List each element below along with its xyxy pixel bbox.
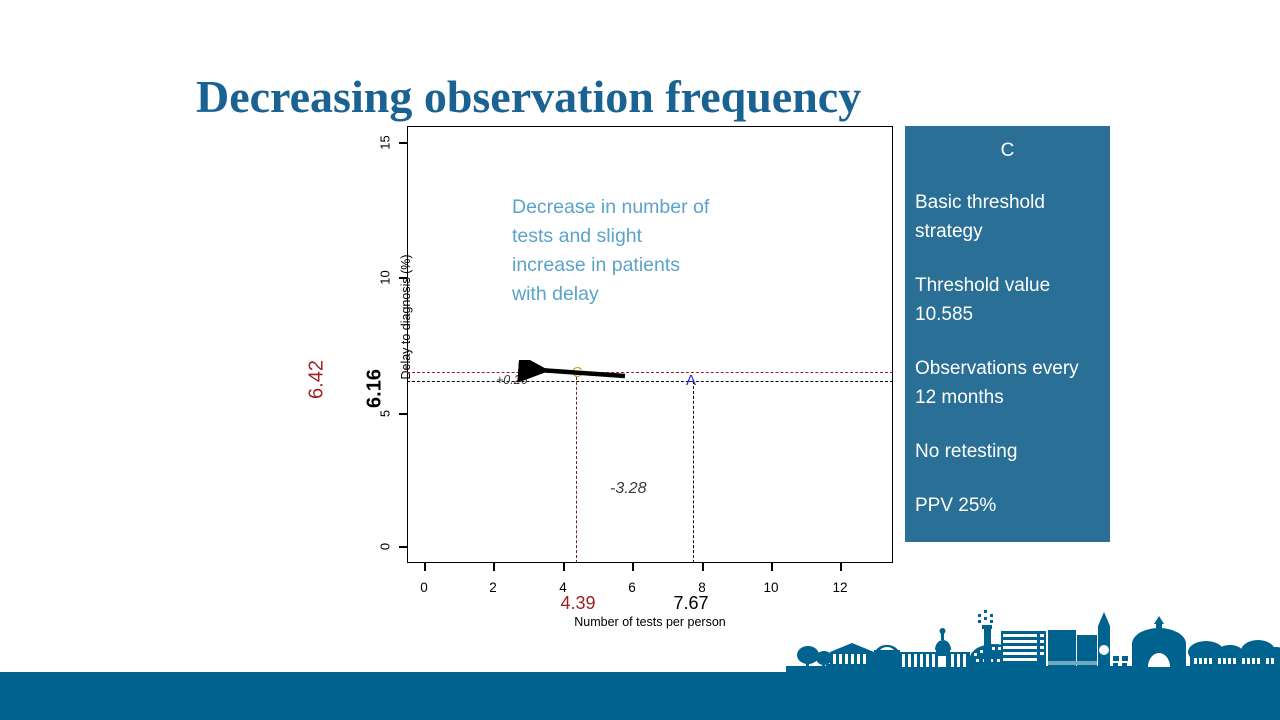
footer-bar [0,672,1280,720]
x-tick-label: 0 [409,580,439,595]
y-tick-mark [399,277,407,279]
page-title: Decreasing observation frequency [196,69,1096,125]
info-panel-line: No retesting [915,437,1100,466]
x-tick-label: 12 [825,580,855,595]
plot-frame [407,126,893,563]
info-panel: C Basic threshold strategy Threshold val… [905,126,1110,542]
info-panel-line: PPV 25% [915,491,1100,520]
x-tick-label: 2 [478,580,508,595]
reference-line-horizontal-red [407,372,893,373]
x-tick-label: 6 [617,580,647,595]
reference-line-vertical-red [576,372,577,563]
info-panel-line: Observations every 12 months [915,354,1100,412]
x-tick-mark [493,563,495,571]
city-skyline-graphic [786,600,1280,674]
x-tick-mark [840,563,842,571]
x-tick-mark [702,563,704,571]
x-highlight-value-red: 4.39 [543,593,613,614]
x-highlight-value-black: 7.67 [656,593,726,614]
y-highlight-value-red: 6.42 [306,350,329,410]
y-tick-label: 15 [378,128,393,158]
info-panel-line: Basic threshold strategy [915,188,1100,246]
data-point-a: A [679,372,703,389]
x-tick-mark [632,563,634,571]
y-tick-label: 0 [378,532,393,562]
y-tick-mark [399,546,407,548]
y-tick-mark [399,142,407,144]
y-axis-title: Delay to diagnosis (%) [399,217,413,417]
annotation-delta-y: +0.26 [496,373,528,387]
annotation-delta-x: -3.28 [610,480,646,498]
x-tick-mark [771,563,773,571]
callout-text: Decrease in number of tests and slight i… [512,193,717,309]
x-tick-mark [563,563,565,571]
y-highlight-value-black: 6.16 [364,359,387,419]
reference-line-vertical-black [693,381,694,563]
reference-line-horizontal-black [407,381,893,382]
y-tick-mark [399,413,407,415]
info-panel-title: C [915,138,1100,164]
data-point-c: C [565,364,589,381]
info-panel-line: Threshold value 10.585 [915,271,1100,329]
x-tick-mark [424,563,426,571]
x-tick-label: 10 [756,580,786,595]
y-tick-label: 10 [378,263,393,293]
slide: Decreasing observation frequency Delay t… [0,0,1280,720]
chart-plot: Delay to diagnosis (%) Number of tests p… [330,120,910,640]
